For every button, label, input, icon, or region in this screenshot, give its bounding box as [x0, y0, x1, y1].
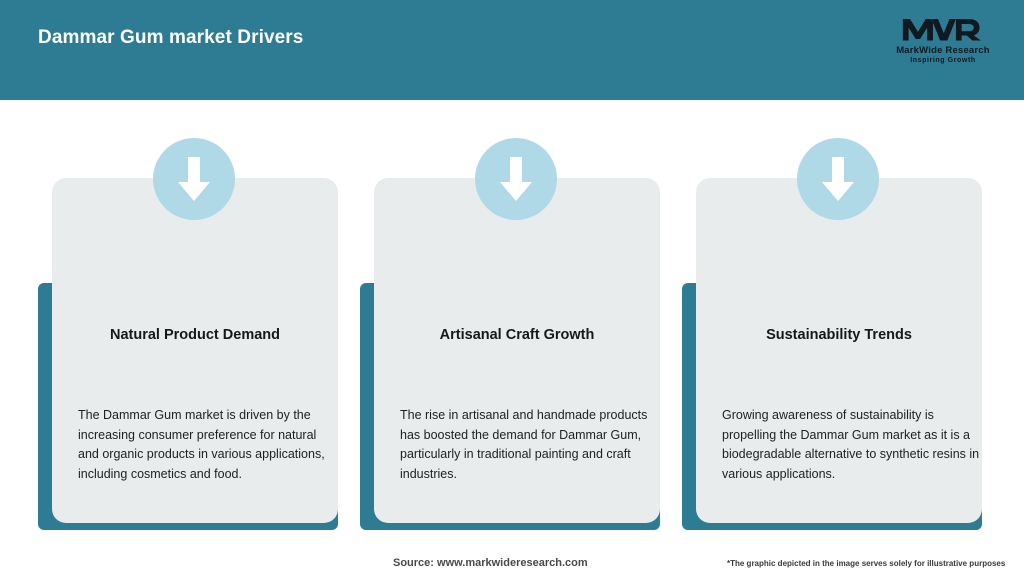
down-arrow-badge [475, 138, 557, 220]
logo-company-name: MarkWide Research [896, 45, 990, 56]
driver-card-group: Sustainability Trends Growing awareness … [682, 100, 982, 540]
driver-card: Artisanal Craft Growth The rise in artis… [374, 178, 660, 523]
down-arrow-icon [174, 155, 214, 203]
mwr-logo-icon [900, 14, 986, 44]
source-label: Source: www.markwideresearch.com [393, 557, 588, 569]
page-title: Dammar Gum market Drivers [38, 27, 303, 49]
driver-card-body: Growing awareness of sustainability is p… [722, 406, 980, 484]
driver-card-group: Artisanal Craft Growth The rise in artis… [360, 100, 660, 540]
driver-card: Natural Product Demand The Dammar Gum ma… [52, 178, 338, 523]
disclaimer-note: *The graphic depicted in the image serve… [727, 559, 1005, 568]
driver-card-title: Natural Product Demand [66, 326, 324, 344]
header-bar: Dammar Gum market Drivers MarkWide Resea… [0, 0, 1024, 100]
down-arrow-icon [818, 155, 858, 203]
logo-tagline: Inspiring Growth [910, 57, 976, 64]
driver-card-title: Sustainability Trends [710, 326, 968, 344]
brand-logo: MarkWide Research Inspiring Growth [884, 8, 1002, 70]
down-arrow-badge [153, 138, 235, 220]
driver-card-title: Artisanal Craft Growth [388, 326, 646, 344]
driver-card-body: The Dammar Gum market is driven by the i… [78, 406, 336, 484]
down-arrow-badge [797, 138, 879, 220]
driver-card-body: The rise in artisanal and handmade produ… [400, 406, 658, 484]
driver-card: Sustainability Trends Growing awareness … [696, 178, 982, 523]
driver-card-group: Natural Product Demand The Dammar Gum ma… [38, 100, 338, 540]
drivers-card-grid: Natural Product Demand The Dammar Gum ma… [0, 100, 1024, 540]
down-arrow-icon [496, 155, 536, 203]
